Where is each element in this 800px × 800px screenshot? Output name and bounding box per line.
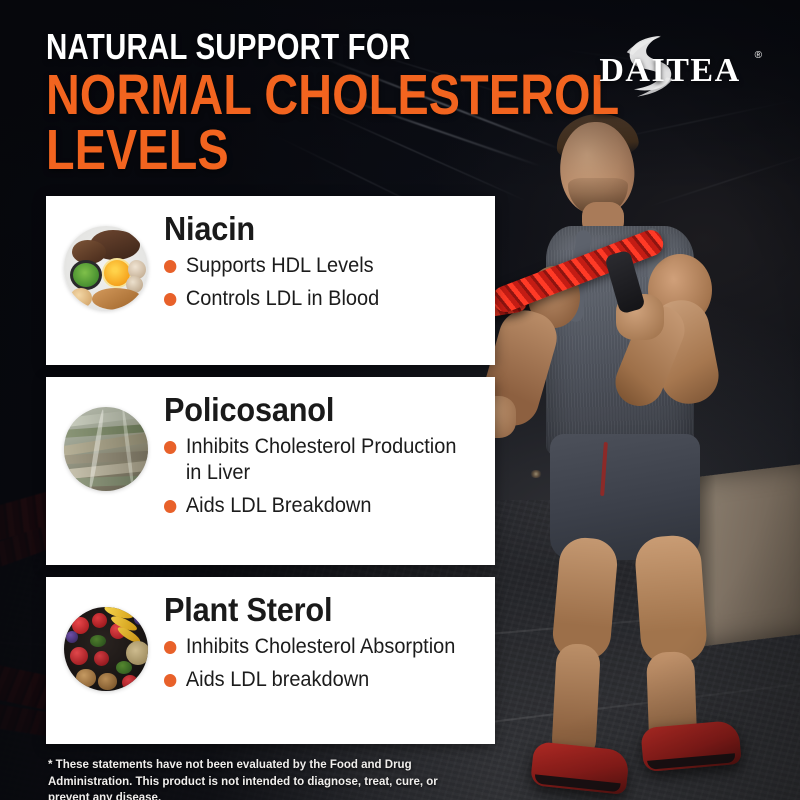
ingredient-card-policosanol[interactable]: Policosanol Inhibits Cholesterol Product…	[46, 377, 495, 565]
ingredient-card-list: Niacin Supports HDL Levels Controls LDL …	[46, 196, 495, 756]
sugarcane-thumbnail	[64, 407, 148, 491]
benefit-text: Aids LDL Breakdown	[186, 493, 465, 519]
bullet-dot-icon	[164, 641, 176, 654]
bullet-dot-icon	[164, 441, 176, 454]
page-title: NATURAL SUPPORT FOR NORMAL CHOLESTEROL L…	[46, 30, 516, 176]
benefit-list: Inhibits Cholesterol Absorption Aids LDL…	[164, 634, 481, 692]
berries-nuts-thumbnail	[64, 607, 148, 691]
fda-disclaimer: * These statements have not been evaluat…	[48, 757, 478, 800]
card-body: Plant Sterol Inhibits Cholesterol Absorp…	[148, 593, 481, 693]
bullet-dot-icon	[164, 500, 176, 513]
card-body: Niacin Supports HDL Levels Controls LDL …	[148, 212, 481, 312]
card-body: Policosanol Inhibits Cholesterol Product…	[148, 393, 481, 518]
list-item: Controls LDL in Blood	[164, 286, 465, 312]
registered-mark: ®	[755, 50, 762, 61]
list-item: Aids LDL breakdown	[164, 667, 465, 693]
card-title: Policosanol	[164, 393, 459, 427]
list-item: Aids LDL Breakdown	[164, 493, 465, 519]
benefit-text: Inhibits Cholesterol Production in Liver	[186, 434, 465, 485]
benefit-text: Aids LDL breakdown	[186, 667, 465, 693]
benefit-list: Supports HDL Levels Controls LDL in Bloo…	[164, 253, 481, 311]
headline-line-3: LEVELS	[46, 124, 431, 176]
benefit-list: Inhibits Cholesterol Production in Liver…	[164, 434, 481, 518]
list-item: Supports HDL Levels	[164, 253, 465, 279]
content-layer: NATURAL SUPPORT FOR NORMAL CHOLESTEROL L…	[0, 0, 800, 800]
brand-logo: DAITEA ®	[580, 36, 760, 98]
bullet-dot-icon	[164, 293, 176, 306]
brand-name: DAITEA	[580, 52, 760, 90]
headline-line-2: NORMAL CHOLESTEROL	[46, 69, 431, 121]
ingredient-card-niacin[interactable]: Niacin Supports HDL Levels Controls LDL …	[46, 196, 495, 365]
card-title: Niacin	[164, 212, 459, 246]
benefit-text: Supports HDL Levels	[186, 253, 465, 279]
benefit-text: Controls LDL in Blood	[186, 286, 465, 312]
ingredient-card-plant-sterol[interactable]: Plant Sterol Inhibits Cholesterol Absorp…	[46, 577, 495, 744]
niacin-foods-thumbnail	[64, 226, 148, 310]
benefit-text: Inhibits Cholesterol Absorption	[186, 634, 465, 660]
infographic-canvas: NATURAL SUPPORT FOR NORMAL CHOLESTEROL L…	[0, 0, 800, 800]
list-item: Inhibits Cholesterol Production in Liver	[164, 434, 465, 485]
bullet-dot-icon	[164, 674, 176, 687]
bullet-dot-icon	[164, 260, 176, 273]
list-item: Inhibits Cholesterol Absorption	[164, 634, 465, 660]
headline-line-1: NATURAL SUPPORT FOR	[46, 30, 431, 63]
card-title: Plant Sterol	[164, 593, 459, 627]
